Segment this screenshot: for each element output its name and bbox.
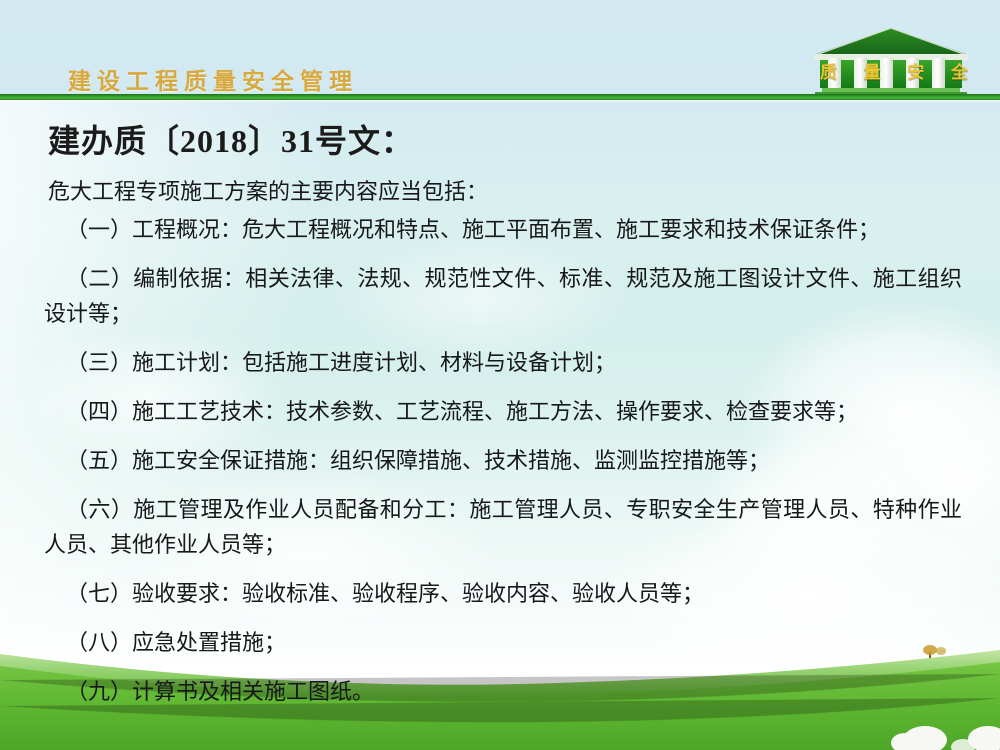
list-item: （九）计算书及相关施工图纸。 xyxy=(44,674,962,709)
requirement-list: （一）工程概况：危大工程概况和特点、施工平面布置、施工要求和技术保证条件； （二… xyxy=(44,212,962,723)
lead-paragraph: 危大工程专项施工方案的主要内容应当包括： xyxy=(48,174,488,206)
list-item: （一）工程概况：危大工程概况和特点、施工平面布置、施工要求和技术保证条件； xyxy=(44,212,962,247)
slide-header: 建设工程质量安全管理 xyxy=(0,0,1000,100)
list-item: （四）施工工艺技术：技术参数、工艺流程、施工方法、操作要求、检查要求等； xyxy=(44,394,962,429)
list-item: （七）验收要求：验收标准、验收程序、验收内容、验收人员等； xyxy=(44,576,962,611)
document-number-title: 建办质〔2018〕31号文： xyxy=(48,116,414,162)
list-item: （六）施工管理及作业人员配备和分工：施工管理人员、专职安全生产管理人员、特种作业… xyxy=(44,492,962,562)
list-item: （八）应急处置措施； xyxy=(44,625,962,660)
slide-root: 建设工程质量安全管理 xyxy=(0,0,1000,750)
header-title: 建设工程质量安全管理 xyxy=(68,62,358,96)
header-rule-highlight xyxy=(0,100,1000,102)
list-item: （五）施工安全保证措施：组织保障措施、技术措施、监测监控措施等； xyxy=(44,443,962,478)
list-item: （三）施工计划：包括施工进度计划、材料与设备计划； xyxy=(44,345,962,380)
list-item: （二）编制依据：相关法律、法规、规范性文件、标准、规范及施工图设计文件、施工组织… xyxy=(44,261,962,331)
quality-safety-temple-logo xyxy=(806,26,976,96)
